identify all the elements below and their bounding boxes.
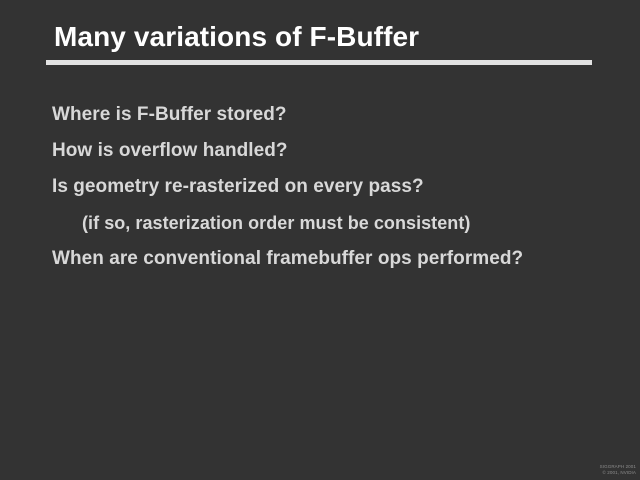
footer-credit-line-2: © 2001, NVIDIA [600, 470, 636, 476]
title-divider [46, 60, 592, 65]
page-title: Many variations of F-Buffer [54, 20, 419, 54]
list-item: Is geometry re-rasterized on every pass? [52, 169, 612, 205]
list-item: When are conventional framebuffer ops pe… [52, 241, 612, 277]
list-item: How is overflow handled? [52, 133, 612, 169]
footer-credit-line-1: SIGGRAPH 2001 [600, 464, 636, 470]
list-item-sub: (if so, rasterization order must be cons… [52, 205, 612, 241]
slide-canvas: Many variations of F-Buffer Where is F-B… [0, 0, 640, 480]
list-item: Where is F-Buffer stored? [52, 97, 612, 133]
bullet-list: Where is F-Buffer stored? How is overflo… [52, 97, 612, 277]
footer-credit: SIGGRAPH 2001 © 2001, NVIDIA [600, 464, 636, 475]
